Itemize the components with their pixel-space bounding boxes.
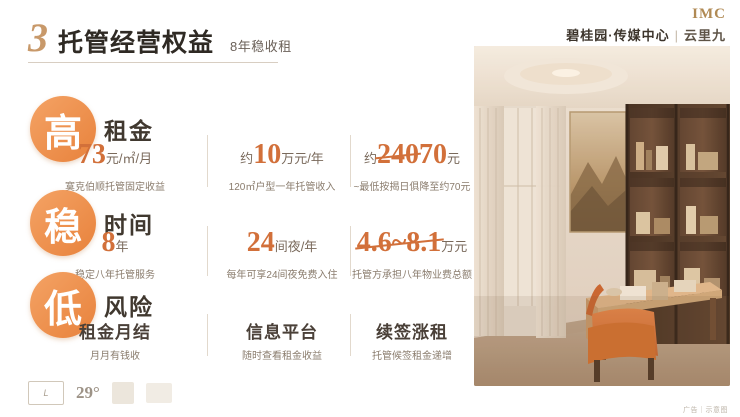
- cell-r2-c1-value-line: 8年: [40, 228, 190, 262]
- footer-block-icon-2: [146, 383, 172, 403]
- cell-r1-c1-value-line: 73元/㎡/月: [40, 140, 190, 174]
- brand-block: IMC 碧桂园·传媒中心|云里九: [566, 6, 726, 44]
- badge-label-row-3: 风险: [104, 288, 154, 322]
- cell-r2-c2-unit: 间夜/年: [275, 239, 318, 254]
- cell-r1-c2: 约10万元/年 120㎡户型一年托管收入: [212, 140, 352, 195]
- page-subtitle: 8年稳收租: [230, 36, 292, 58]
- cell-r2-c2-value-line: 24间夜/年: [212, 228, 352, 262]
- cell-r1-c2-prefix: 约: [240, 151, 253, 166]
- divider-r1-2: [350, 135, 351, 187]
- cell-r3-c3-caption: 托管候签租金递增: [352, 350, 472, 364]
- cell-r1-c2-caption: 120㎡户型一年托管收入: [212, 181, 352, 195]
- divider-r3-1: [207, 314, 208, 356]
- disclaimer-text: 广告｜示意图: [683, 405, 728, 415]
- section-number: 3: [28, 18, 48, 58]
- footer-block-icon-1: [112, 382, 134, 404]
- cell-r2-c1-value: 8: [101, 227, 115, 258]
- cell-r2-c2: 24间夜/年 每年可享24间夜免费入住: [212, 228, 352, 283]
- brand-name-separator: |: [675, 28, 679, 43]
- brand-name: 碧桂园·传媒中心|云里九: [566, 25, 726, 44]
- cell-r2-c3-struck-value: 4.6~8.1: [357, 227, 442, 258]
- cell-r3-c3: 续签涨租 托管候签租金递增: [352, 318, 472, 364]
- cell-r3-c1: 租金月结 月月有钱收: [40, 318, 190, 364]
- cell-r1-c3-caption: ~最低按揭日俱降至约70元: [352, 181, 472, 195]
- cell-r3-c1-title: 租金月结: [40, 318, 190, 343]
- cell-r3-c2-caption: 随时查看租金收益: [212, 350, 352, 364]
- cell-r3-c2: 信息平台 随时查看租金收益: [212, 318, 352, 364]
- cell-r1-c1-unit: 元/㎡/月: [106, 151, 152, 166]
- header-divider: [28, 62, 278, 63]
- cell-r1-c3-unit: 元: [447, 151, 460, 166]
- divider-r2-1: [207, 226, 208, 276]
- cell-r3-c2-title: 信息平台: [212, 318, 352, 343]
- cell-r1-c3: 约24070元 ~最低按揭日俱降至约70元: [352, 140, 472, 195]
- brand-logo-icon: IMC: [566, 6, 726, 22]
- cell-r1-c3-value: 70: [419, 139, 447, 170]
- page-title: 托管经营权益: [58, 28, 214, 58]
- brand-name-secondary: 云里九: [684, 28, 726, 43]
- cell-r1-c2-value: 10: [253, 139, 281, 170]
- cell-r1-c1: 73元/㎡/月 寞克伯顺托管固定收益: [40, 140, 190, 195]
- cell-r2-c3: 4.6~8.1万元 托管方承担八年物业费总额: [352, 228, 472, 283]
- cell-r3-c3-title: 续签涨租: [352, 318, 472, 343]
- cell-r2-c1-unit: 年: [115, 239, 128, 254]
- slide-root: 3 托管经营权益 8年稳收租 高 租金 73元/㎡/月 寞克伯顺托管固定收益 约…: [0, 0, 740, 417]
- cell-r2-c2-value: 24: [247, 227, 275, 258]
- cell-r1-c2-unit: 万元/年: [281, 151, 324, 166]
- interior-photo: [474, 46, 730, 386]
- cell-r1-c1-value: 73: [78, 139, 106, 170]
- divider-r3-2: [350, 314, 351, 356]
- page-header: 3 托管经营权益 8年稳收租: [28, 18, 292, 58]
- cell-r2-c2-caption: 每年可享24间夜免费入住: [212, 269, 352, 283]
- cell-r1-c3-struck-value: 240: [377, 139, 419, 170]
- footer-marks: L 29°: [28, 381, 172, 405]
- cell-r2-c3-unit: 万元: [441, 239, 467, 254]
- cell-r2-c3-value-line: 4.6~8.1万元: [352, 228, 472, 262]
- brand-name-primary: 碧桂园·传媒中心: [566, 28, 669, 43]
- cell-r2-c3-caption: 托管方承担八年物业费总额: [352, 269, 472, 283]
- cell-r1-c2-value-line: 约10万元/年: [212, 140, 352, 174]
- divider-r1-1: [207, 135, 208, 187]
- interior-photo-graphic: [474, 46, 730, 386]
- cell-r1-c3-value-line: 约24070元: [352, 140, 472, 174]
- degree-label: 29°: [76, 383, 100, 403]
- logo-mark-icon: L: [28, 381, 64, 405]
- cell-r3-c1-caption: 月月有钱收: [40, 350, 190, 364]
- divider-r2-2: [350, 226, 351, 276]
